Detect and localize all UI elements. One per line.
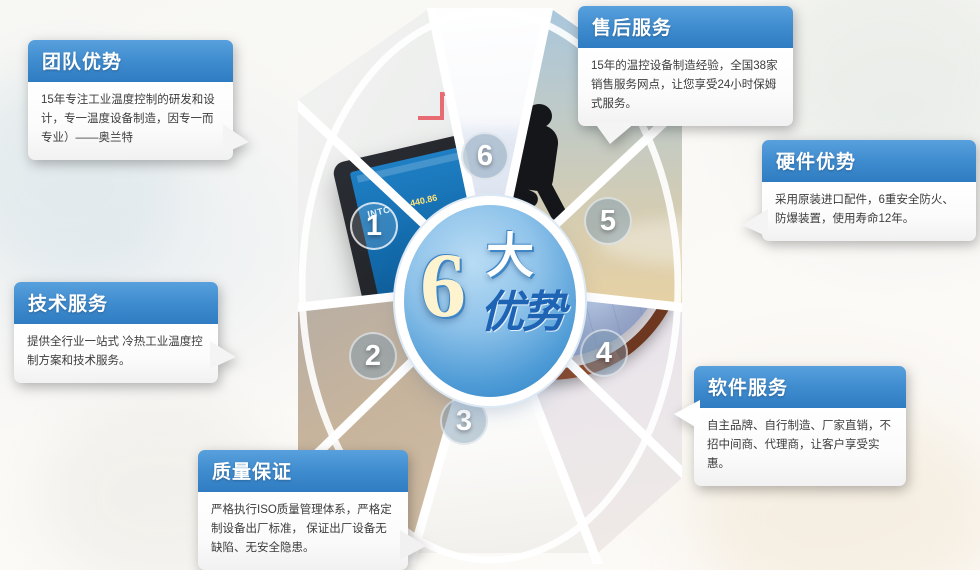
center-hub[interactable]: 6 大 优势 (404, 205, 576, 397)
segment-badge-3[interactable]: 3 (440, 397, 488, 445)
callout-after-sales[interactable]: 售后服务 15年的温控设备制造经验，全国38家销售服务网点，让您享受24小时保姆… (578, 6, 793, 126)
callout-team-tail (223, 124, 249, 154)
callout-team-title: 团队优势 (28, 40, 233, 82)
callout-after-sales-title: 售后服务 (578, 6, 793, 48)
callout-quality-title: 质量保证 (198, 450, 408, 492)
callout-technical-title: 技术服务 (14, 282, 218, 324)
callout-quality-tail (400, 530, 426, 560)
hub-number: 6 (420, 239, 466, 331)
callout-team-body: 15年专注工业温度控制的研发和设计，专一温度设备制造，因专一而专业）——奥兰特 (28, 82, 233, 160)
segment-badge-1[interactable]: 1 (350, 202, 398, 250)
callout-hardware-title: 硬件优势 (762, 140, 976, 182)
callout-software-title: 软件服务 (694, 366, 906, 408)
hub-script-text: 优势 (480, 291, 564, 335)
callout-team[interactable]: 团队优势 15年专注工业温度控制的研发和设计，专一温度设备制造，因专一而专业）—… (28, 40, 233, 160)
segment-badge-5[interactable]: 5 (584, 197, 632, 245)
callout-technical[interactable]: 技术服务 提供全行业一站式 冷热工业温度控制方案和技术服务。 (14, 282, 218, 383)
callout-hardware-tail (742, 209, 768, 237)
callout-hardware-body: 采用原装进口配件，6重安全防火、防爆装置，使用寿命12年。 (762, 182, 976, 241)
segment-badge-4[interactable]: 4 (580, 329, 628, 377)
callout-hardware[interactable]: 硬件优势 采用原装进口配件，6重安全防火、防爆装置，使用寿命12年。 (762, 140, 976, 241)
callout-software-body: 自主品牌、自行制造、厂家直销，不招中间商、代理商，让客户享受实惠。 (694, 408, 906, 486)
callout-quality[interactable]: 质量保证 严格执行ISO质量管理体系，严格定制设备出厂标准， 保证出厂设备无缺陷… (198, 450, 408, 570)
callout-software[interactable]: 软件服务 自主品牌、自行制造、厂家直销，不招中间商、代理商，让客户享受实惠。 (694, 366, 906, 486)
hub-big-char: 大 (486, 233, 534, 281)
infographic-canvas: INTC 440.86 (0, 0, 980, 570)
segment-badge-6[interactable]: 6 (461, 132, 509, 180)
callout-software-tail (674, 400, 700, 430)
callout-after-sales-body: 15年的温控设备制造经验，全国38家销售服务网点，让您享受24小时保姆式服务。 (578, 48, 793, 126)
segment-badge-2[interactable]: 2 (349, 332, 397, 380)
callout-technical-body: 提供全行业一站式 冷热工业温度控制方案和技术服务。 (14, 324, 218, 383)
callout-technical-tail (210, 341, 236, 369)
callout-after-sales-tail (594, 122, 636, 144)
callout-quality-body: 严格执行ISO质量管理体系，严格定制设备出厂标准， 保证出厂设备无缺陷、无安全隐… (198, 492, 408, 570)
